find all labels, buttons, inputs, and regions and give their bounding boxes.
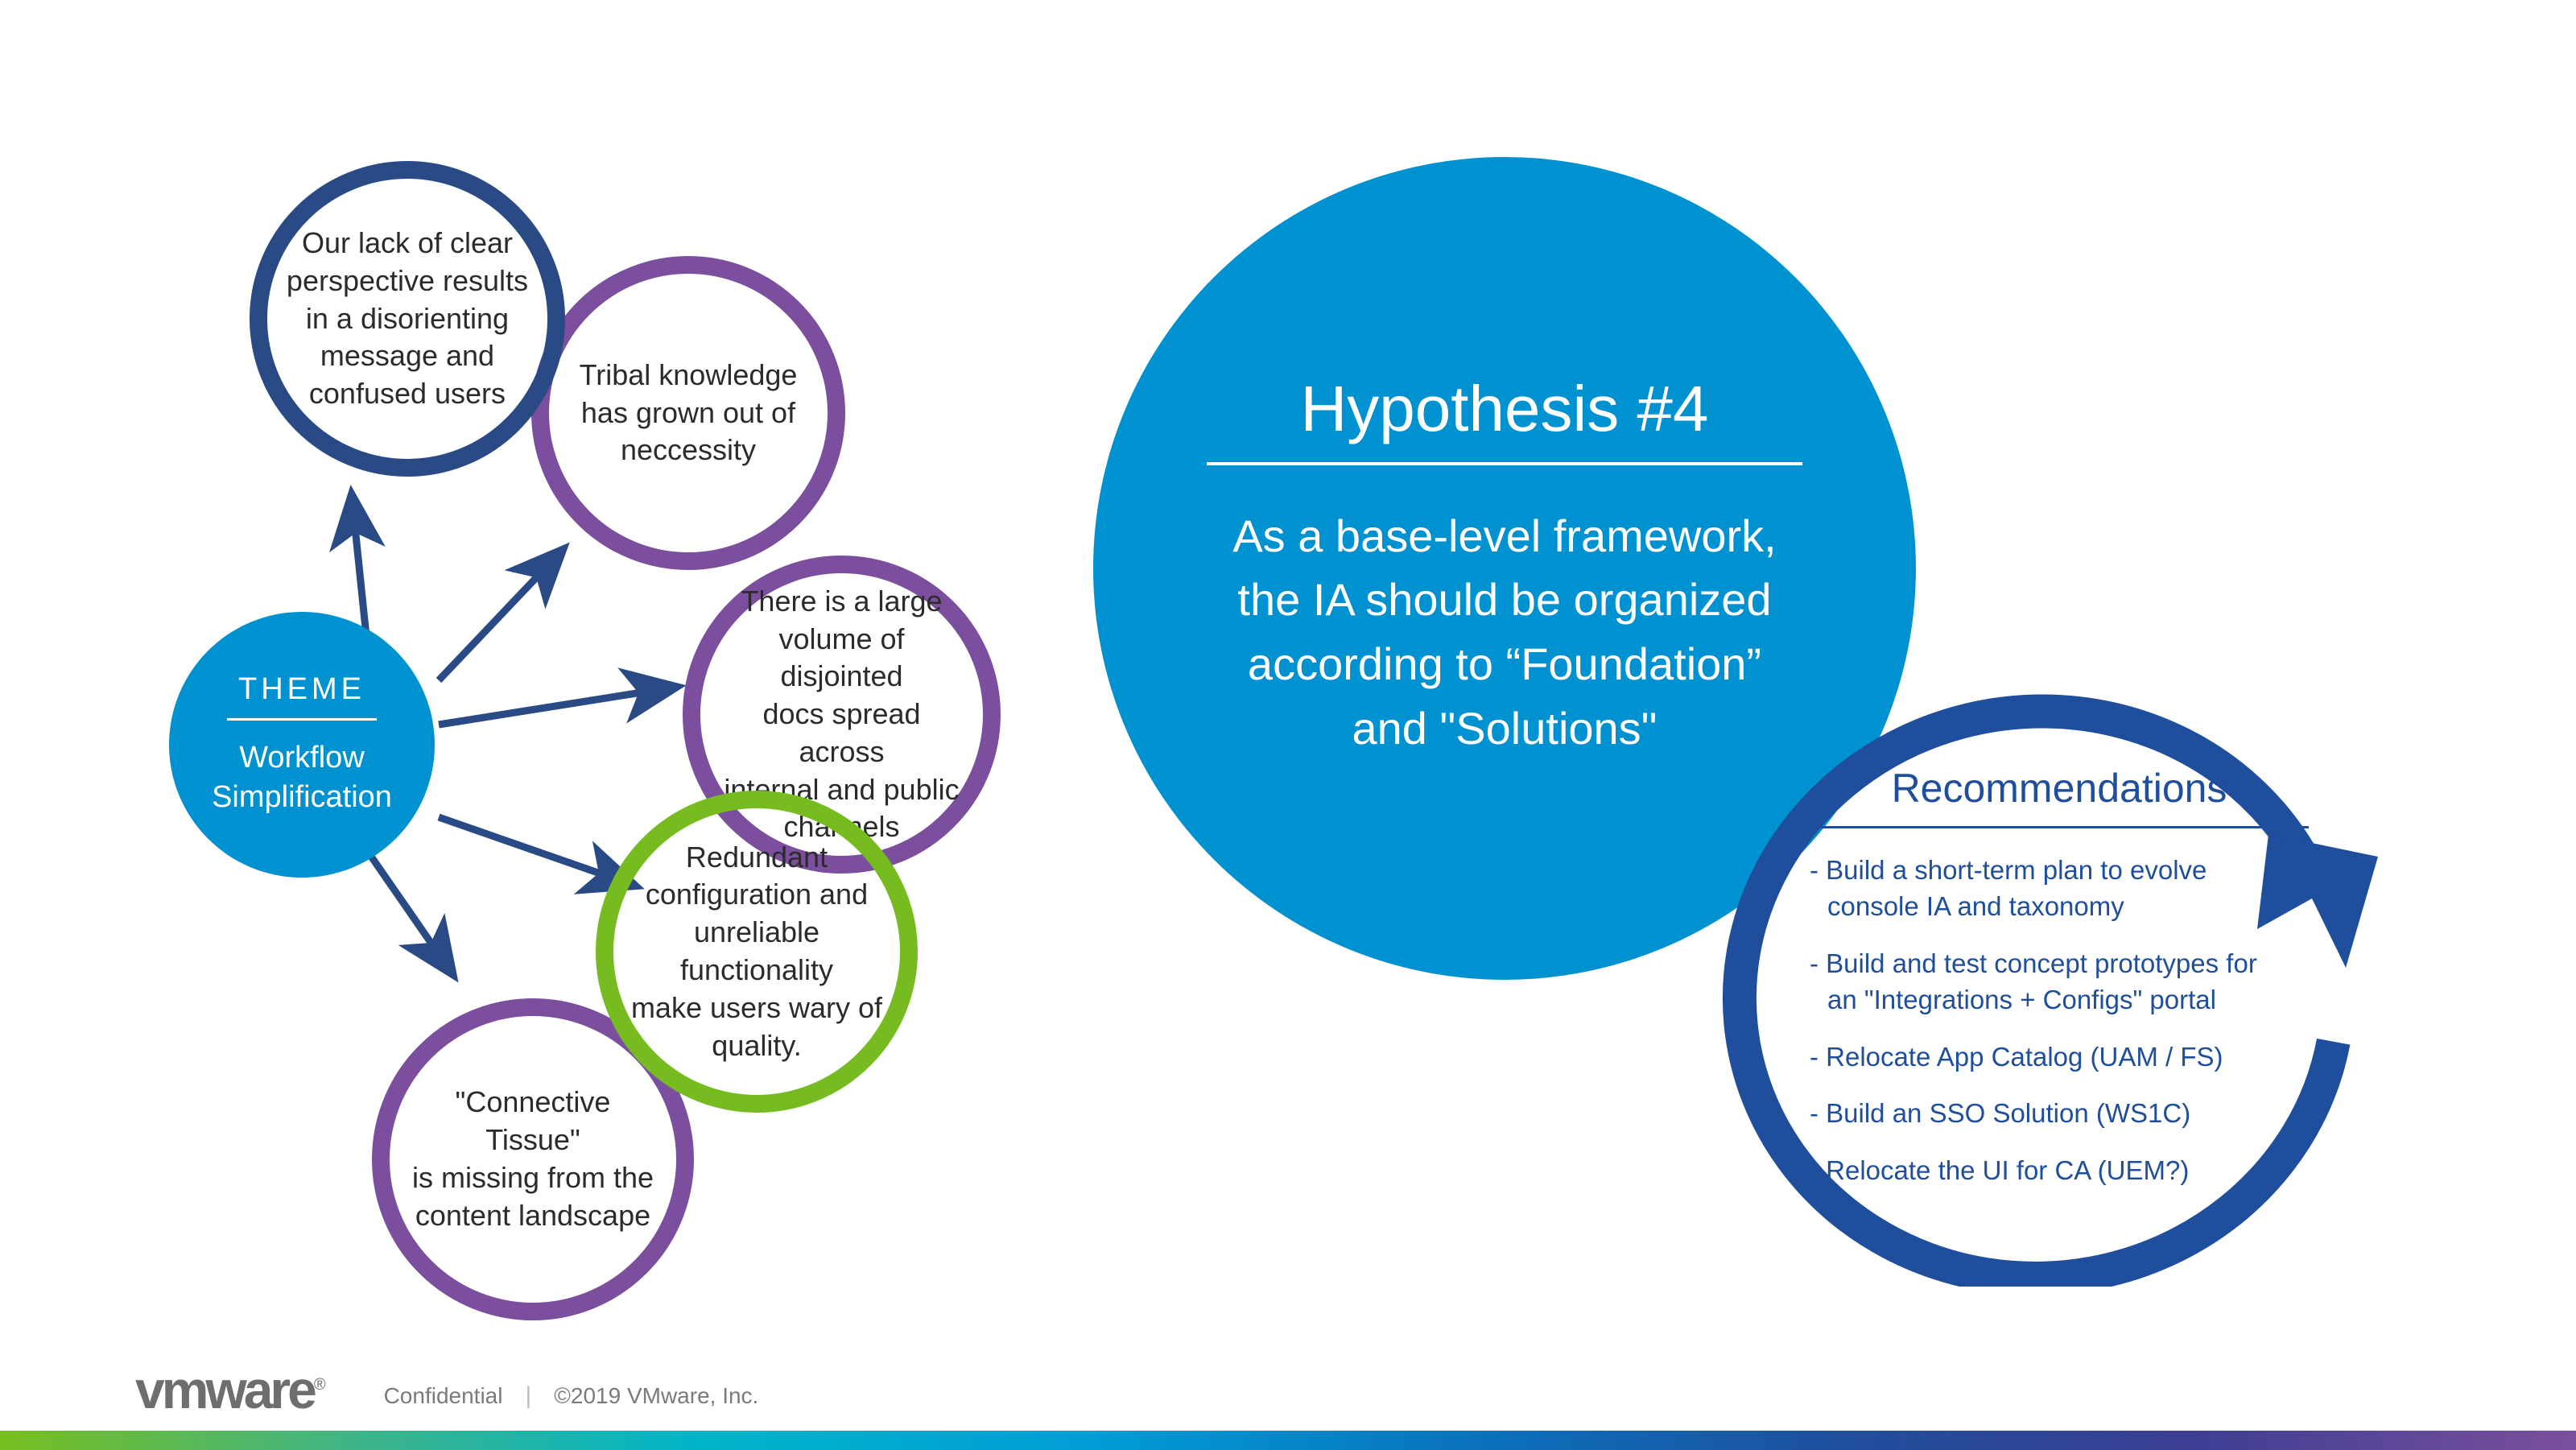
- arrow-to-tribal: [439, 568, 546, 680]
- theme-bubble: THEME Workflow Simplification: [169, 612, 435, 878]
- insight-text-tribal: Tribal knowledge has grown out of necces…: [563, 357, 814, 469]
- footer-meta: Confidential | ©2019 VMware, Inc.: [384, 1382, 759, 1416]
- registered-trademark-icon: ®: [314, 1376, 326, 1394]
- insight-circle-redundant: Redundant configuration and unreliable f…: [596, 791, 918, 1113]
- theme-value: Workflow Simplification: [212, 738, 392, 818]
- theme-divider: [227, 718, 377, 721]
- insight-text-connective: "Connective Tissue" is missing from the …: [390, 1084, 676, 1234]
- brand-gradient-bar: [0, 1431, 2576, 1450]
- recommendations-divider: [1810, 826, 2309, 828]
- theme-label: THEME: [238, 672, 365, 707]
- recommendation-item: - Relocate the UI for CA (UEM?): [1810, 1153, 2309, 1189]
- insight-text-redundant: Redundant configuration and unreliable f…: [613, 839, 900, 1065]
- slide-canvas: Our lack of clear perspective results in…: [0, 0, 2576, 1450]
- arrow-to-docs: [439, 691, 652, 725]
- arrow-to-perspective: [354, 519, 366, 636]
- arrow-to-connective: [366, 849, 439, 954]
- recommendations-panel: Recommendations - Build a short-term pla…: [1713, 691, 2421, 1287]
- vmware-logo: vmware®: [135, 1363, 326, 1416]
- insight-circle-perspective: Our lack of clear perspective results in…: [250, 161, 565, 477]
- recommendations-title: Recommendations: [1810, 765, 2309, 812]
- footer-separator: |: [525, 1382, 531, 1410]
- hypothesis-divider: [1207, 462, 1802, 465]
- hypothesis-title: Hypothesis #4: [1301, 377, 1709, 441]
- slide-footer: vmware® Confidential | ©2019 VMware, Inc…: [0, 1329, 2576, 1450]
- insight-text-perspective: Our lack of clear perspective results in…: [270, 225, 545, 413]
- insight-circle-tribal: Tribal knowledge has grown out of necces…: [531, 256, 845, 570]
- recommendations-content: Recommendations - Build a short-term pla…: [1810, 765, 2309, 1210]
- recommendation-item: - Build a short-term plan to evolve cons…: [1810, 853, 2309, 925]
- vmware-wordmark: vmware: [135, 1360, 314, 1419]
- footer-content: vmware® Confidential | ©2019 VMware, Inc…: [135, 1363, 758, 1416]
- copyright-label: ©2019 VMware, Inc.: [554, 1383, 758, 1409]
- recommendation-item: - Relocate App Catalog (UAM / FS): [1810, 1039, 2309, 1076]
- arrow-to-redundant: [439, 817, 612, 878]
- recommendation-item: - Build an SSO Solution (WS1C): [1810, 1096, 2309, 1132]
- recommendation-item: - Build and test concept prototypes for …: [1810, 946, 2309, 1018]
- confidential-label: Confidential: [384, 1383, 503, 1409]
